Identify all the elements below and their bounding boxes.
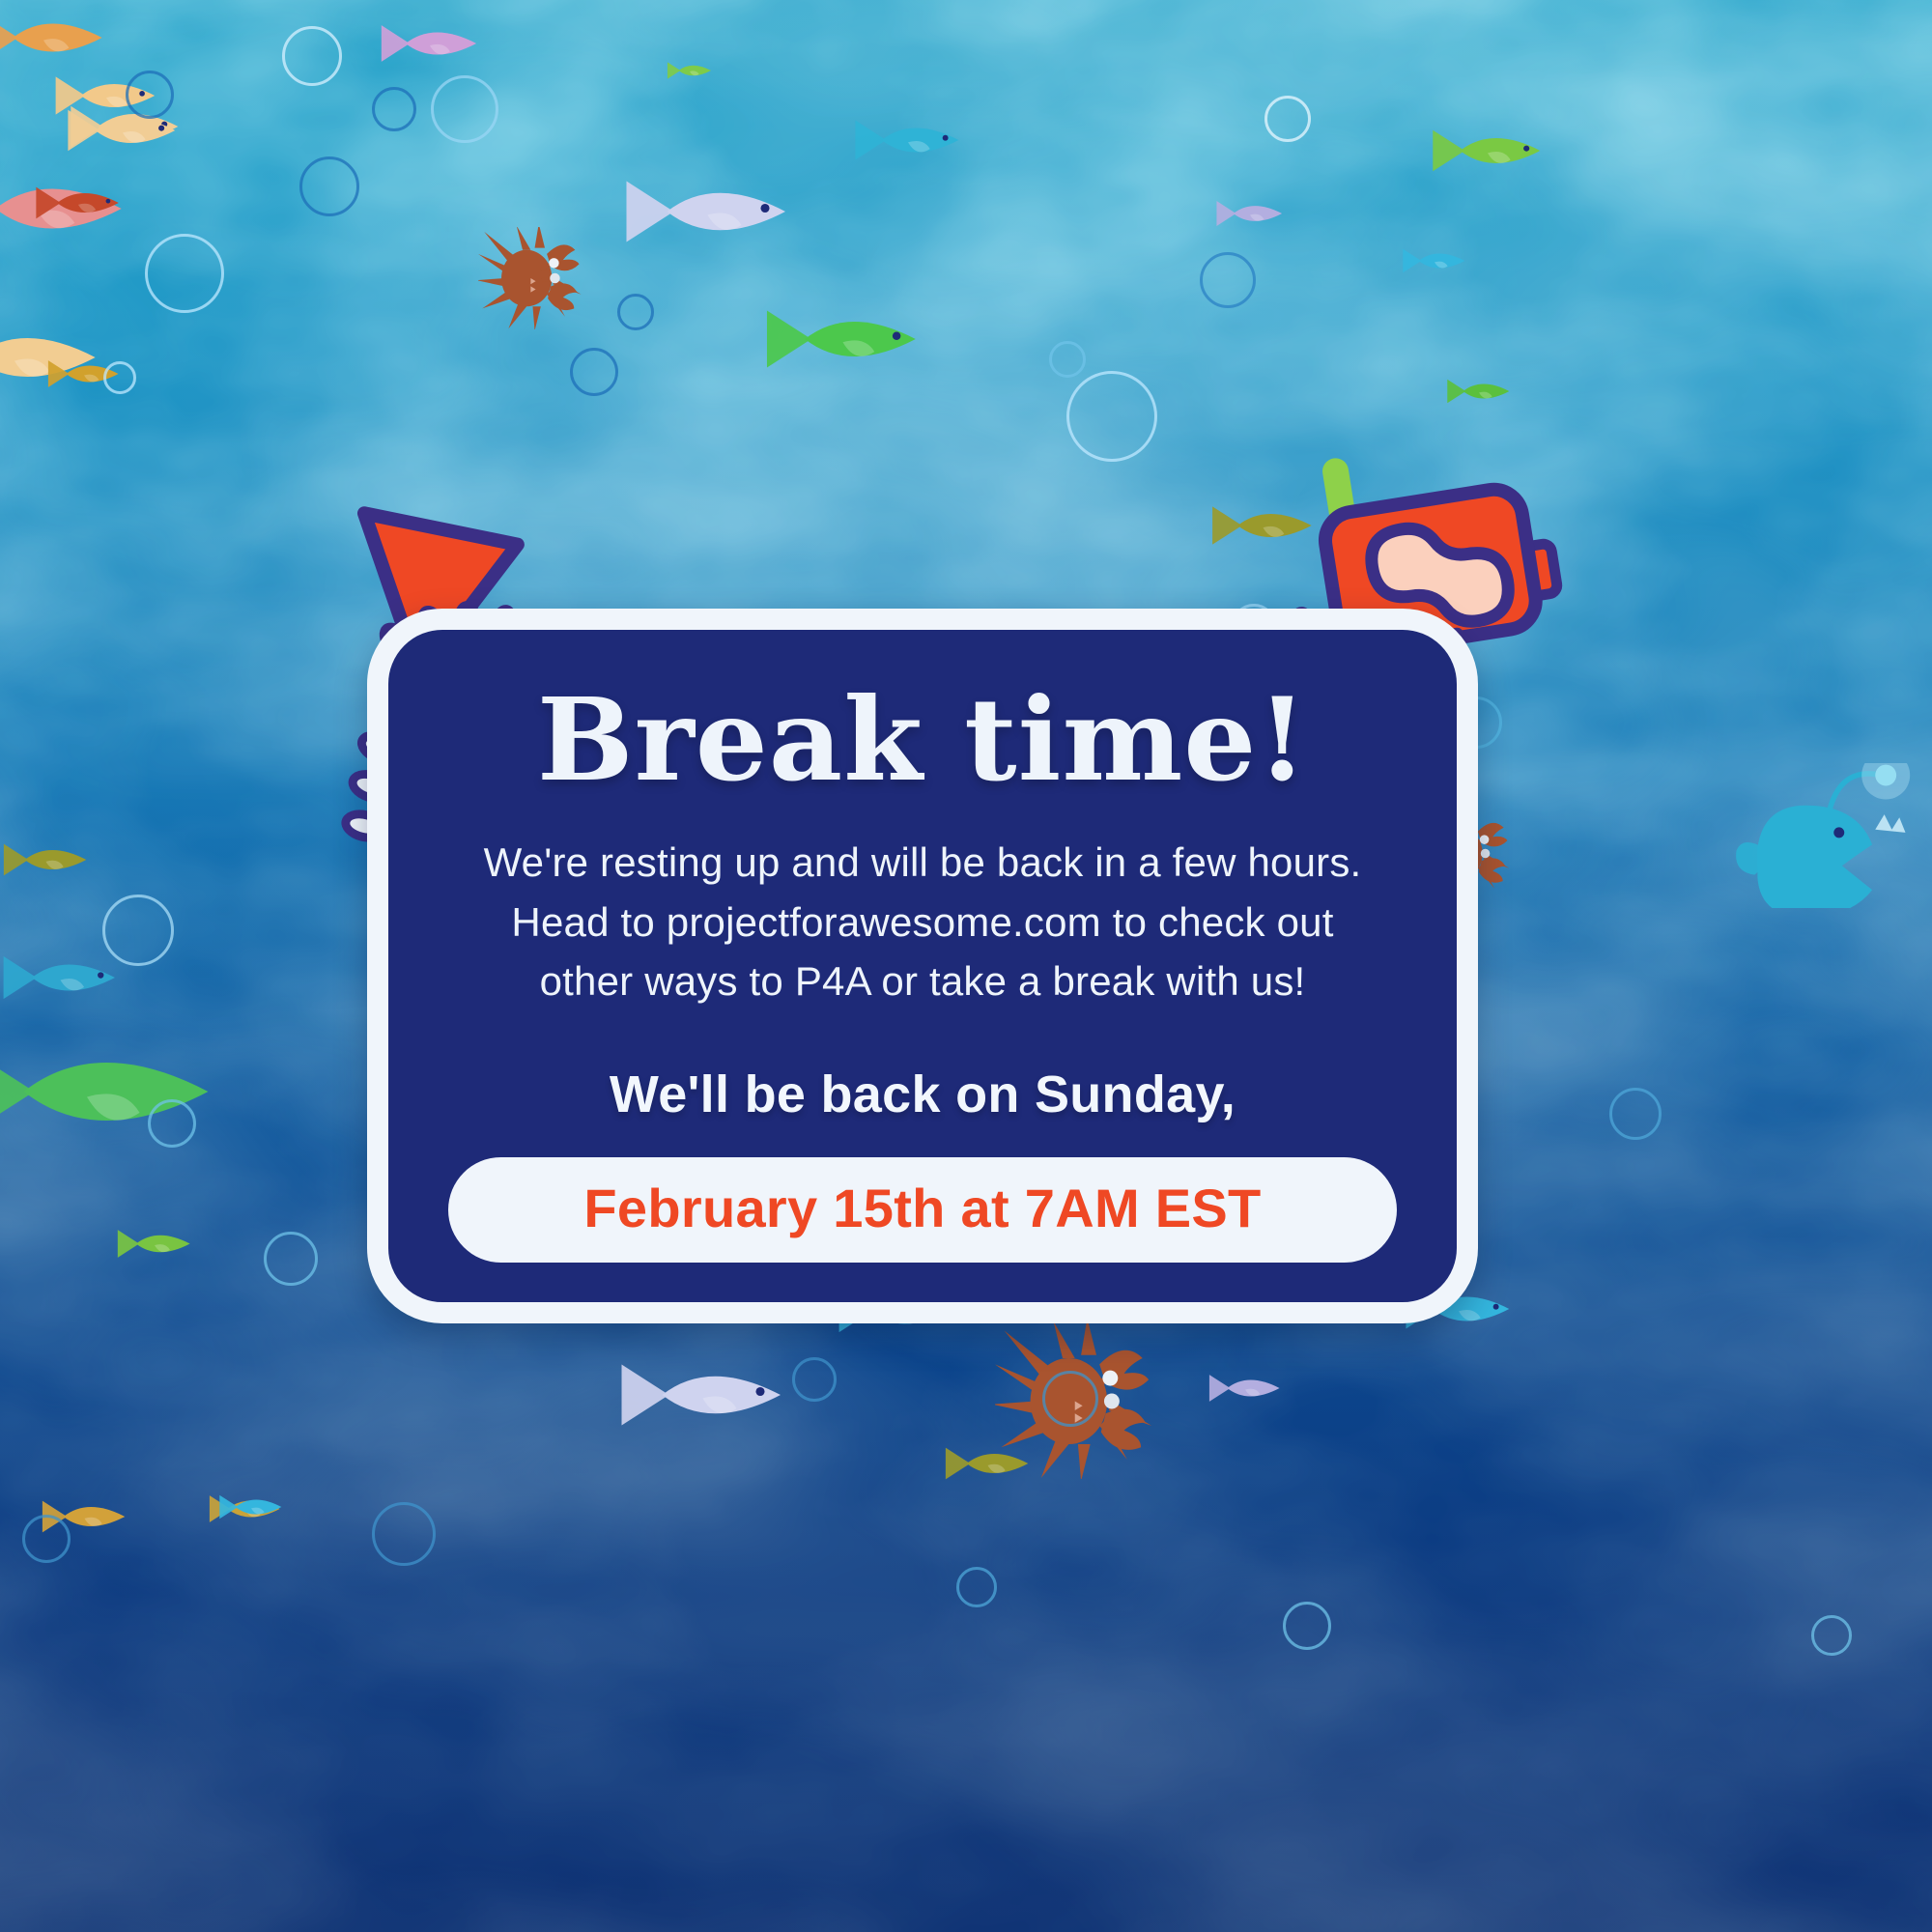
bubble-5 <box>617 294 654 330</box>
bubble-17 <box>102 895 174 966</box>
bubble-18 <box>148 1099 196 1148</box>
body-copy: We're resting up and will be back in a f… <box>484 833 1362 1010</box>
return-date-text: February 15th at 7AM EST <box>583 1178 1261 1238</box>
bubble-4 <box>299 156 359 216</box>
body-line-3: other ways to P4A or take a break with u… <box>484 952 1362 1010</box>
fish-lime-left-small <box>116 1227 193 1261</box>
fish-cyan-left-mid <box>0 952 121 1004</box>
bubble-9 <box>1264 96 1311 142</box>
bubble-1 <box>126 71 174 119</box>
fish-teal-top <box>850 116 966 164</box>
fish-lavender-bot-big <box>618 1357 787 1433</box>
bubble-11 <box>1049 341 1086 378</box>
fish-cyan-right <box>1401 246 1468 275</box>
fish-green-right-edge <box>1430 126 1546 176</box>
bubble-6 <box>570 348 618 396</box>
fish-green-top <box>763 304 923 374</box>
fish-pink-top-right <box>377 21 483 66</box>
bubble-2 <box>372 87 416 131</box>
bubble-22 <box>1042 1371 1098 1427</box>
bubble-28 <box>372 1502 436 1566</box>
fish-green-right2 <box>1444 377 1514 406</box>
bubble-26 <box>956 1567 997 1607</box>
bubble-23 <box>1609 1088 1662 1140</box>
fish-lavender-top <box>623 174 792 249</box>
bubble-19 <box>264 1232 318 1286</box>
bubble-21 <box>792 1357 837 1402</box>
bubble-0 <box>282 26 342 86</box>
fish-lime-tiny-top <box>667 60 713 81</box>
break-time-card: Break time! We're resting up and will be… <box>367 609 1478 1323</box>
fish-olive-left-mid <box>0 840 92 879</box>
bubble-7 <box>103 361 136 394</box>
return-subheadline: We'll be back on Sunday, <box>610 1065 1236 1124</box>
bubble-8 <box>431 75 498 143</box>
fish-orange-topleft-edge <box>0 10 116 66</box>
return-date-badge: February 15th at 7AM EST <box>448 1157 1397 1263</box>
bubble-24 <box>1283 1602 1331 1650</box>
bubble-25 <box>1811 1615 1852 1656</box>
bubble-27 <box>22 1515 71 1563</box>
page-title: Break time! <box>537 682 1308 798</box>
fish-cyan-bot-far <box>217 1492 285 1521</box>
fish-lavender-bot-right <box>1207 1372 1283 1405</box>
body-line-1: We're resting up and will be back in a f… <box>484 833 1362 892</box>
poster-canvas: Break time! We're resting up and will be… <box>0 0 1932 1932</box>
bubble-12 <box>1066 371 1157 462</box>
body-line-2: Head to projectforawesome.com to check o… <box>484 893 1362 952</box>
fish-lavender-right <box>1215 198 1285 229</box>
bubble-3 <box>145 234 224 313</box>
break-time-card-wrapper: Break time! We're resting up and will be… <box>367 609 1478 1323</box>
crab-top-mid <box>478 227 589 329</box>
fish-red-left <box>34 184 123 222</box>
fish-anglerfish-right <box>1729 763 1913 908</box>
bubble-10 <box>1200 252 1256 308</box>
